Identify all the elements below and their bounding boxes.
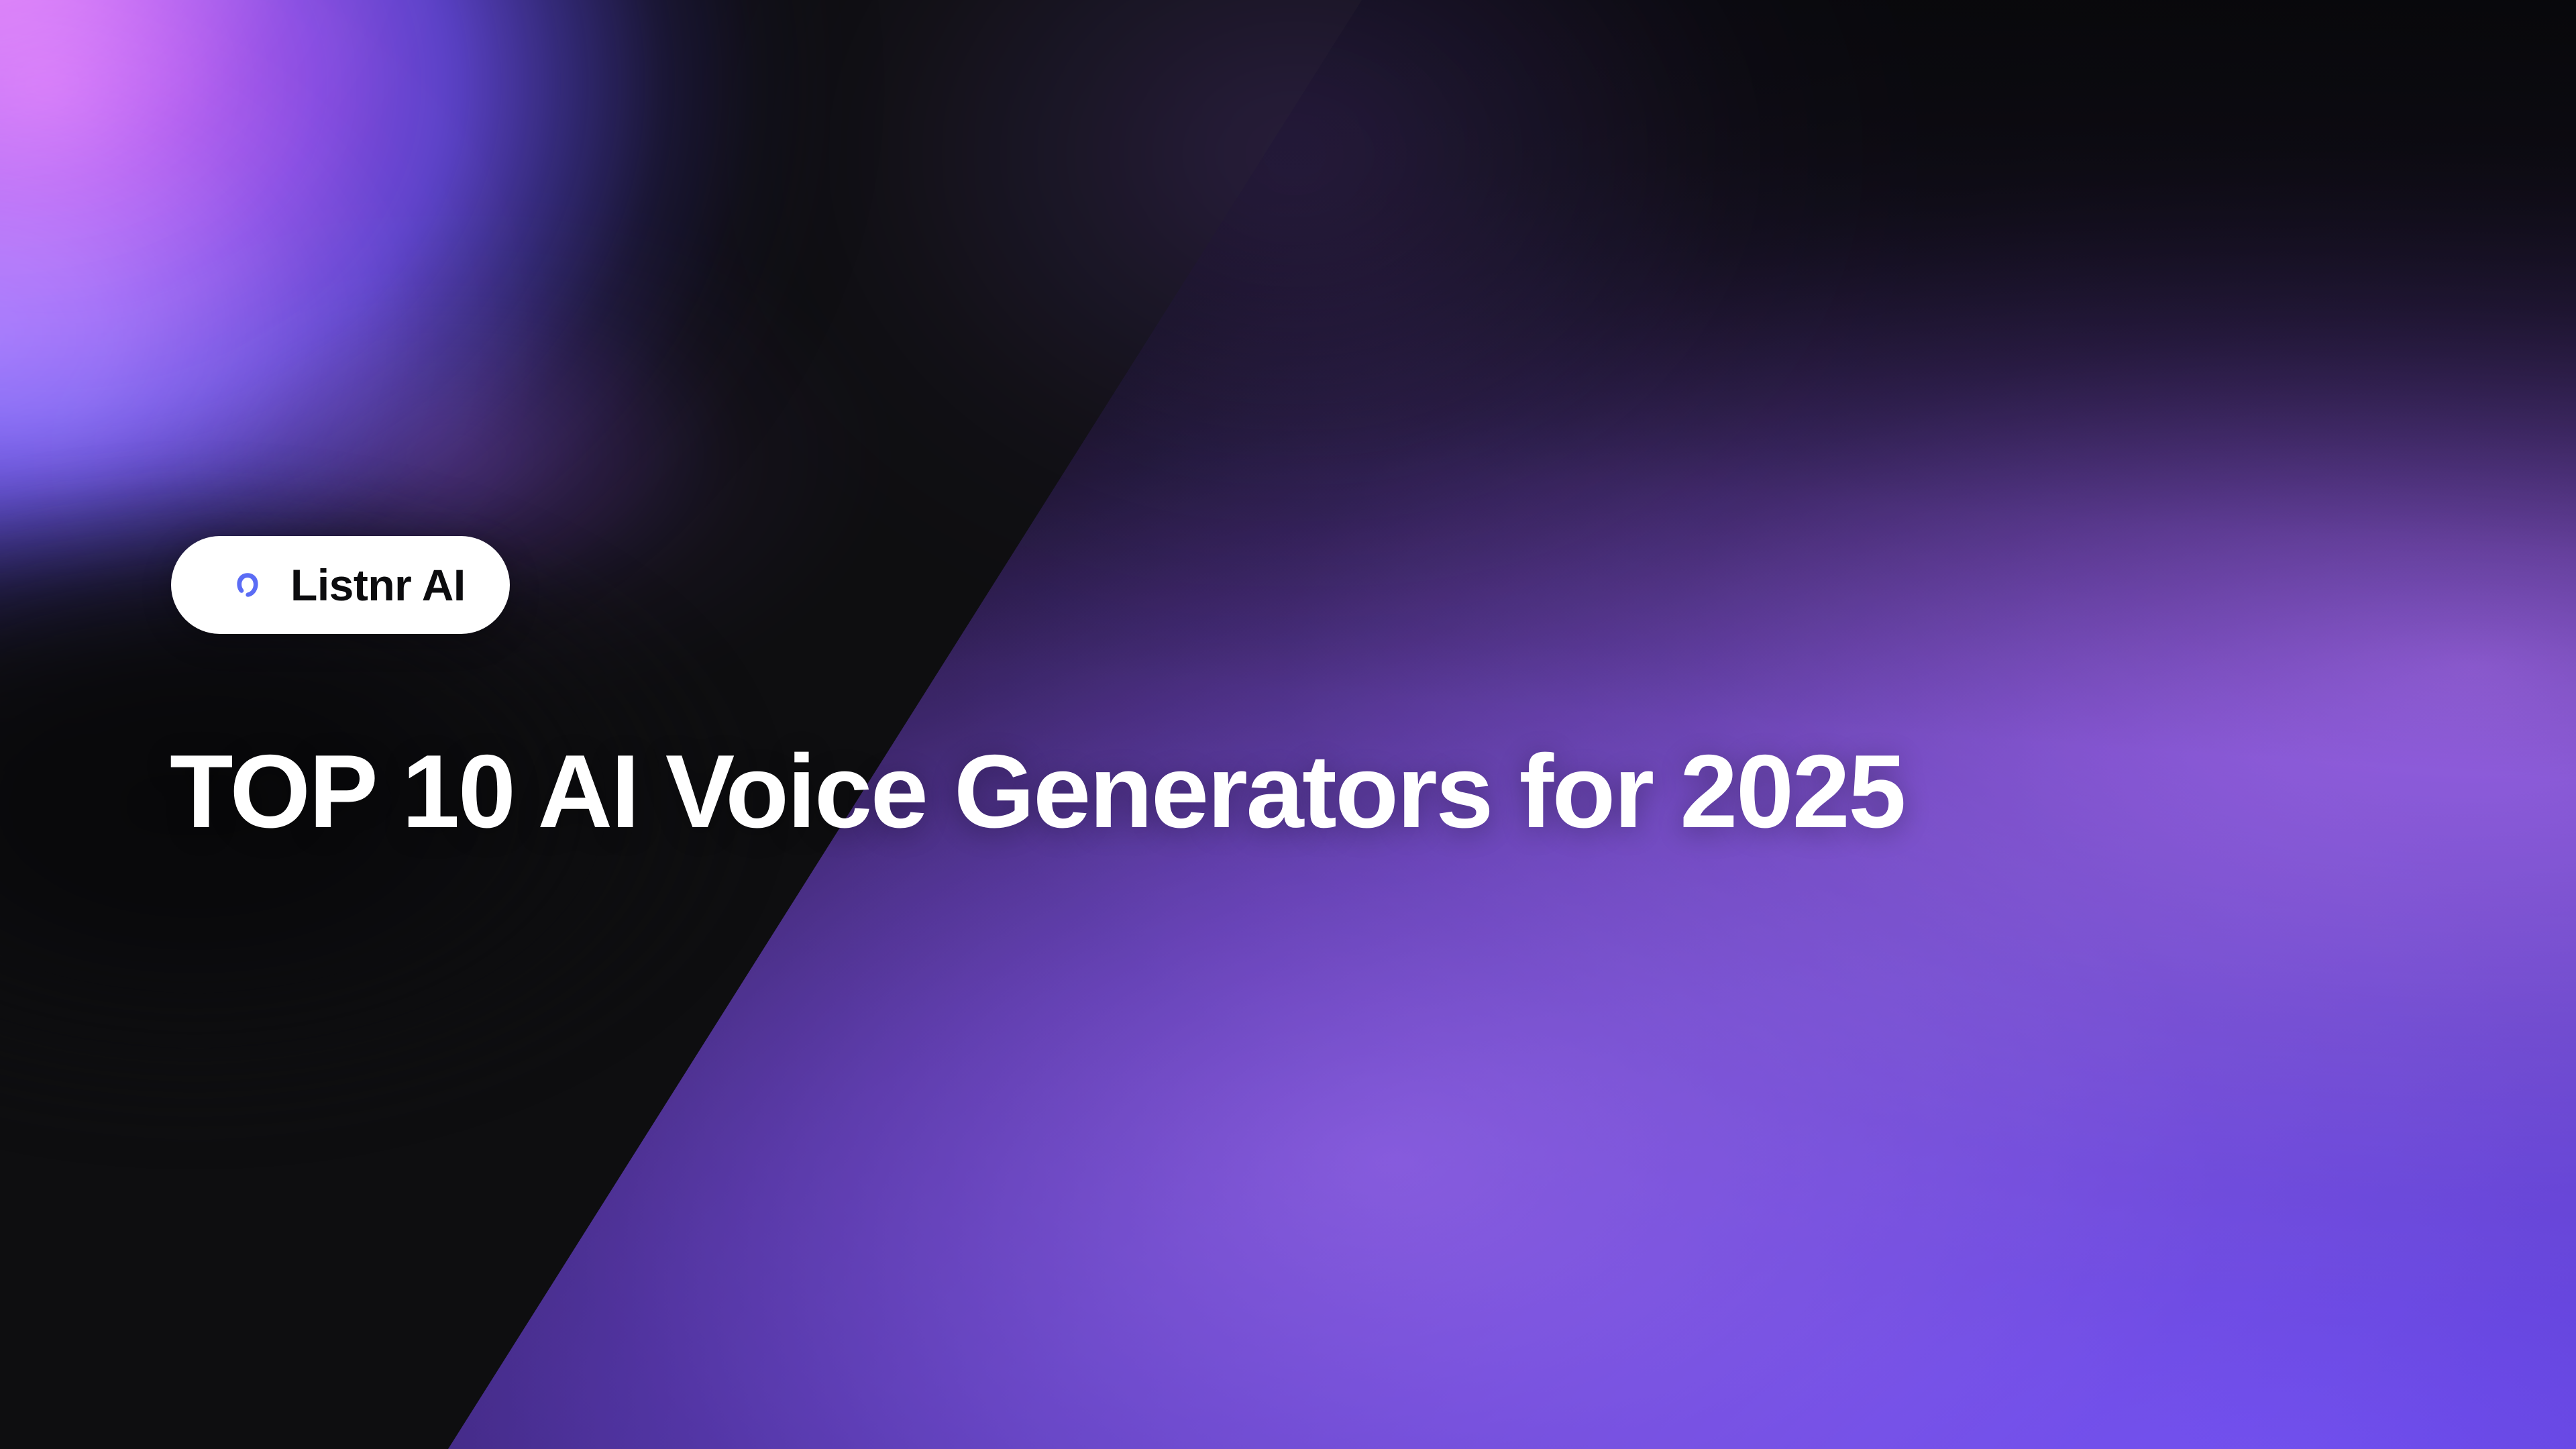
hero-content: Listnr AI TOP 10 AI Voice Generators for… [171, 0, 2452, 1449]
brand-badge[interactable]: Listnr AI [171, 536, 510, 634]
brand-name-label: Listnr AI [290, 563, 466, 607]
listnr-loop-icon [235, 571, 260, 599]
hero-banner: Listnr AI TOP 10 AI Voice Generators for… [0, 0, 2576, 1449]
page-title: TOP 10 AI Voice Generators for 2025 [170, 735, 1904, 847]
